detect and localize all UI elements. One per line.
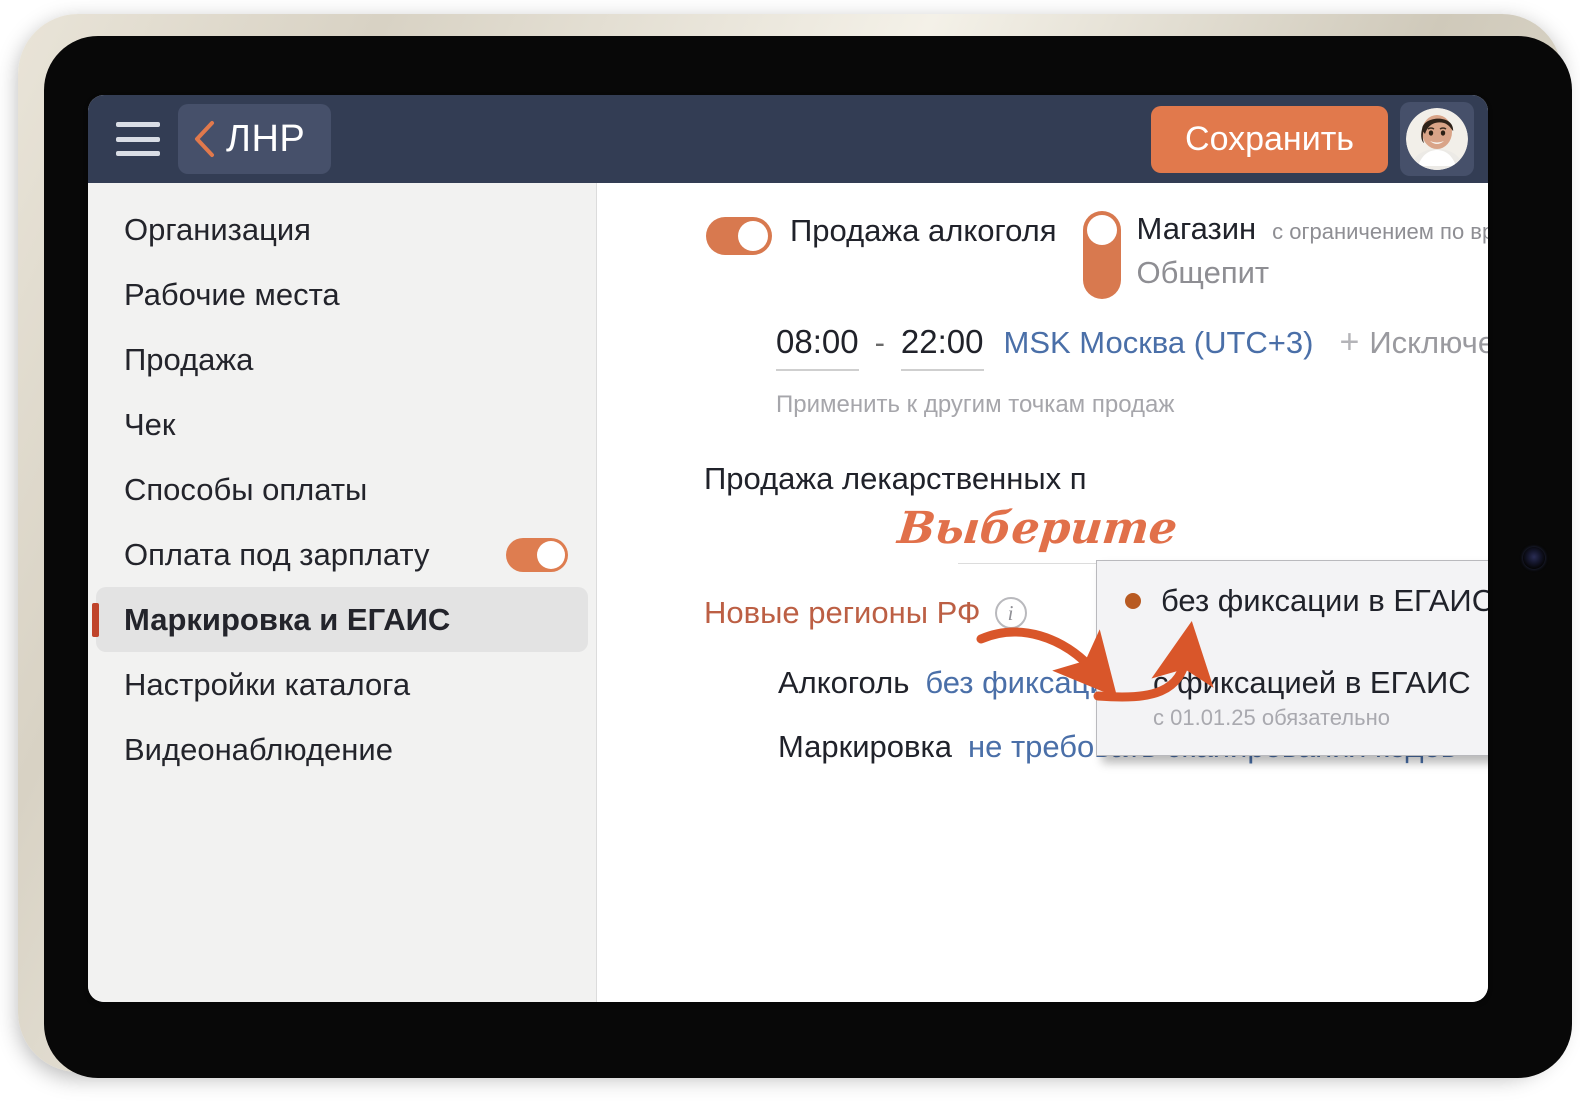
sidebar-item-label: Организация (124, 212, 568, 248)
sidebar-toggle-oplata-pod-zarplatu[interactable] (506, 538, 568, 572)
venue-mode-catering-label: Общепит (1137, 255, 1270, 291)
sidebar-item-nastrojki-kataloga[interactable]: Настройки каталога (88, 652, 596, 717)
selected-bullet-icon (1125, 593, 1141, 609)
sidebar-item-label: Рабочие места (124, 277, 568, 313)
region-row-key: Алкоголь (778, 665, 909, 701)
medicines-sale-title: Продажа лекарственных п (704, 461, 1087, 497)
add-exception-label: Исключение (1369, 325, 1488, 361)
avatar[interactable] (1400, 102, 1474, 176)
popup-option-note: с 01.01.25 обязательно (1153, 705, 1471, 731)
page-title: ЛНР (226, 118, 305, 161)
sidebar-item-chek[interactable]: Чек (88, 392, 596, 457)
region-row-key: Маркировка (778, 729, 952, 765)
new-regions-header: Новые регионы РФ i (704, 595, 1027, 631)
time-to-input[interactable]: 22:00 (901, 323, 984, 371)
venue-mode-shop-hint: с ограничением по времени (1272, 219, 1488, 245)
venue-mode-shop-row[interactable]: Магазин с ограничением по времени (1137, 211, 1488, 255)
app-header: ЛНР Сохранить (88, 95, 1488, 183)
timezone-selector[interactable]: MSK Москва (UTC+3) (1004, 325, 1314, 361)
venue-mode-switch: Магазин с ограничением по времени Общепи… (1083, 211, 1488, 299)
egais-options-popup: без фиксации в ЕГАИС с фиксацией в ЕГАИС… (1096, 560, 1488, 756)
annotation-handwritten-text: Выберите (895, 503, 1179, 554)
alcohol-sales-row: Продажа алкоголя Магазин с ограничением … (706, 211, 1488, 299)
sidebar-item-label: Маркировка и ЕГАИС (124, 602, 560, 638)
sidebar-item-prodazha[interactable]: Продажа (88, 327, 596, 392)
info-icon[interactable]: i (995, 597, 1027, 629)
time-range-dash: - (875, 325, 885, 361)
sidebar-item-markirovka-i-egais[interactable]: Маркировка и ЕГАИС (96, 587, 588, 652)
header-actions: Сохранить (1151, 102, 1488, 176)
venue-mode-toggle[interactable] (1083, 211, 1121, 299)
sidebar-item-oplata-pod-zarplatu[interactable]: Оплата под зарплату (88, 522, 596, 587)
sidebar-item-sposoby-oplaty[interactable]: Способы оплаты (88, 457, 596, 522)
front-camera-icon (1523, 547, 1545, 569)
venue-mode-shop-label: Магазин (1137, 211, 1257, 247)
chevron-left-icon (192, 119, 216, 159)
new-regions-title: Новые регионы РФ (704, 595, 981, 631)
add-exception-button[interactable]: + Исключение (1339, 323, 1488, 362)
sidebar-item-organizaciya[interactable]: Организация (88, 197, 596, 262)
popup-option-bez-fiksacii[interactable]: без фиксации в ЕГАИС (1125, 583, 1488, 619)
sidebar-nav: Организация Рабочие места Продажа Чек Сп… (88, 183, 597, 1002)
sidebar-item-label: Настройки каталога (124, 667, 568, 703)
plus-icon: + (1339, 323, 1359, 362)
sidebar-item-label: Оплата под зарплату (124, 537, 506, 573)
hamburger-icon[interactable] (116, 122, 160, 156)
time-from-input[interactable]: 08:00 (776, 323, 859, 371)
save-button[interactable]: Сохранить (1151, 106, 1388, 173)
popup-option-s-fiksaciey[interactable]: с фиксацией в ЕГАИС с 01.01.25 обязатель… (1153, 665, 1471, 731)
popup-option-label: без фиксации в ЕГАИС (1161, 583, 1488, 619)
sidebar-item-label: Продажа (124, 342, 568, 378)
alcohol-sales-toggle[interactable] (706, 217, 772, 255)
venue-mode-options: Магазин с ограничением по времени Общепи… (1137, 211, 1488, 299)
sidebar-item-label: Способы оплаты (124, 472, 568, 508)
apply-to-other-points-link[interactable]: Применить к другим точкам продаж (776, 391, 1174, 419)
sidebar-item-videonablyudenie[interactable]: Видеонаблюдение (88, 717, 596, 782)
venue-mode-catering-row[interactable]: Общепит (1137, 255, 1488, 299)
back-button[interactable]: ЛНР (178, 104, 331, 174)
alcohol-sales-label: Продажа алкоголя (790, 213, 1057, 249)
user-avatar-icon (1406, 108, 1468, 170)
popup-option-label: с фиксацией в ЕГАИС (1153, 665, 1471, 701)
time-range-row: 08:00 - 22:00 MSK Москва (UTC+3) + Исклю… (776, 323, 1488, 371)
app-screen: ЛНР Сохранить (88, 95, 1488, 1002)
sidebar-item-label: Видеонаблюдение (124, 732, 568, 768)
sidebar-item-rabochie-mesta[interactable]: Рабочие места (88, 262, 596, 327)
sidebar-item-label: Чек (124, 407, 568, 443)
